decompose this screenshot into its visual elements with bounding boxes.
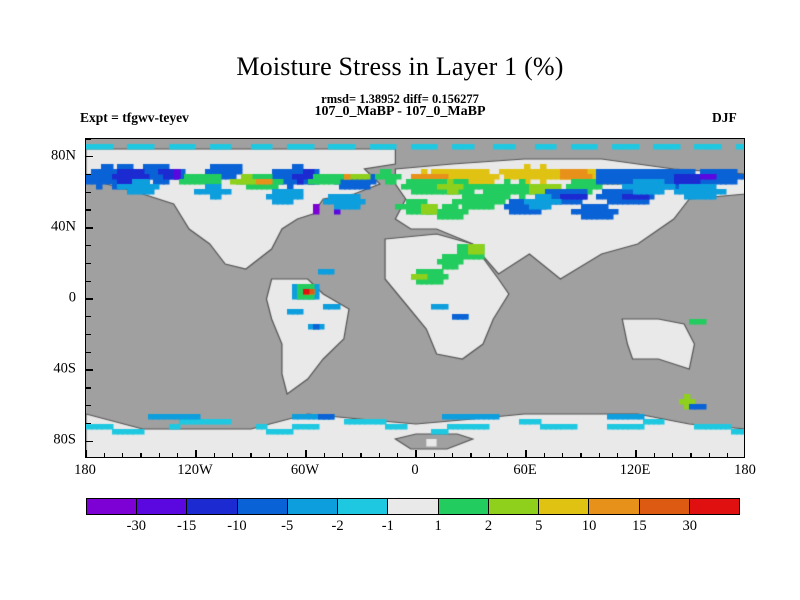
y-axis-tick — [86, 156, 93, 157]
y-axis-tick — [86, 263, 91, 264]
x-axis-tick — [525, 450, 526, 457]
x-axis-tick — [415, 450, 416, 457]
x-axis-tick — [470, 453, 471, 458]
y-axis-label: 40N — [28, 218, 76, 235]
x-axis-label: 120W — [177, 462, 212, 479]
x-axis-tick — [397, 453, 398, 458]
x-axis-tick — [85, 450, 86, 457]
y-axis-tick — [86, 405, 91, 406]
colorbar-tick-label: 15 — [632, 518, 647, 535]
y-axis-tick — [86, 298, 93, 299]
x-axis-tick — [305, 450, 306, 457]
colorbar-band-10 — [588, 499, 638, 514]
moisture-stress-heatmap — [86, 139, 745, 458]
x-axis-tick — [104, 453, 105, 458]
y-axis-label: 80S — [28, 432, 76, 449]
figure-root: Moisture Stress in Layer 1 (%) rmsd= 1.3… — [0, 0, 800, 600]
y-axis-tick — [86, 369, 93, 370]
colorbar-tick-label: -1 — [382, 518, 394, 535]
x-axis-tick — [489, 453, 490, 458]
x-axis-tick — [159, 453, 160, 458]
y-axis-tick — [86, 281, 91, 282]
x-axis-label: 60E — [513, 462, 536, 479]
y-axis-tick — [86, 387, 91, 388]
x-axis-tick — [122, 453, 123, 458]
x-axis-tick — [544, 453, 545, 458]
y-axis-tick — [86, 192, 91, 193]
colorbar-band-9 — [538, 499, 588, 514]
colorbar-tick-label: 1 — [435, 518, 442, 535]
x-axis-tick — [617, 453, 618, 458]
y-axis-label: 0 — [28, 290, 76, 307]
colorbar-tick-label: 10 — [582, 518, 597, 535]
y-axis-tick — [86, 174, 91, 175]
y-axis-tick — [86, 316, 91, 317]
y-axis-tick — [86, 423, 91, 424]
x-axis-tick — [690, 453, 691, 458]
x-axis-tick — [324, 453, 325, 458]
x-axis-tick — [452, 453, 453, 458]
x-axis-tick — [562, 453, 563, 458]
colorbar-tick-label: 2 — [485, 518, 492, 535]
x-axis-tick — [507, 453, 508, 458]
x-axis-tick — [232, 453, 233, 458]
x-axis-tick — [214, 453, 215, 458]
x-axis-label: 0 — [411, 462, 418, 479]
x-axis-label: 120E — [620, 462, 651, 479]
x-axis-tick — [434, 453, 435, 458]
page-title: Moisture Stress in Layer 1 (%) — [0, 52, 800, 82]
colorbar-tick-label: -30 — [127, 518, 146, 535]
y-axis-tick — [86, 245, 91, 246]
y-axis-tick — [86, 441, 93, 442]
x-axis-tick — [709, 453, 710, 458]
season-label: DJF — [712, 110, 737, 126]
x-axis-tick — [599, 453, 600, 458]
colorbar — [86, 498, 740, 515]
experiment-label: Expt = tfgwv-teyev — [80, 110, 189, 126]
colorbar-band-3 — [237, 499, 287, 514]
x-axis-tick — [342, 453, 343, 458]
x-axis-tick — [379, 453, 380, 458]
x-axis-tick — [635, 450, 636, 457]
x-axis-tick — [654, 453, 655, 458]
map-plot-area — [85, 138, 745, 458]
x-axis-tick — [287, 453, 288, 458]
colorbar-tick-label: 30 — [682, 518, 697, 535]
colorbar-tick-label: 5 — [535, 518, 542, 535]
colorbar-band-5 — [337, 499, 387, 514]
x-axis-tick — [195, 450, 196, 457]
colorbar-band-11 — [639, 499, 689, 514]
x-axis-label: 180 — [734, 462, 756, 479]
y-axis-tick — [86, 209, 91, 210]
x-axis-tick — [250, 453, 251, 458]
y-axis-tick — [86, 352, 91, 353]
x-axis-tick — [672, 453, 673, 458]
colorbar-band-6 — [387, 499, 437, 514]
colorbar-tick-label: -15 — [177, 518, 196, 535]
colorbar-band-7 — [438, 499, 488, 514]
x-axis-tick — [177, 453, 178, 458]
x-axis-label: 60W — [291, 462, 319, 479]
x-axis-tick — [580, 453, 581, 458]
colorbar-band-8 — [488, 499, 538, 514]
x-axis-label: 180 — [74, 462, 96, 479]
colorbar-band-4 — [287, 499, 337, 514]
y-axis-label: 40S — [28, 361, 76, 378]
x-axis-tick — [269, 453, 270, 458]
colorbar-band-1 — [136, 499, 186, 514]
y-axis-tick — [86, 138, 91, 139]
y-axis-label: 80N — [28, 147, 76, 164]
y-axis-tick — [86, 334, 91, 335]
x-axis-tick — [360, 453, 361, 458]
colorbar-tick-label: -5 — [281, 518, 293, 535]
colorbar-band-12 — [689, 499, 739, 514]
colorbar-band-2 — [186, 499, 236, 514]
colorbar-band-0 — [87, 499, 136, 514]
x-axis-tick — [140, 453, 141, 458]
colorbar-tick-label: -10 — [227, 518, 246, 535]
x-axis-tick — [727, 453, 728, 458]
y-axis-tick — [86, 227, 93, 228]
colorbar-tick-label: -2 — [331, 518, 343, 535]
